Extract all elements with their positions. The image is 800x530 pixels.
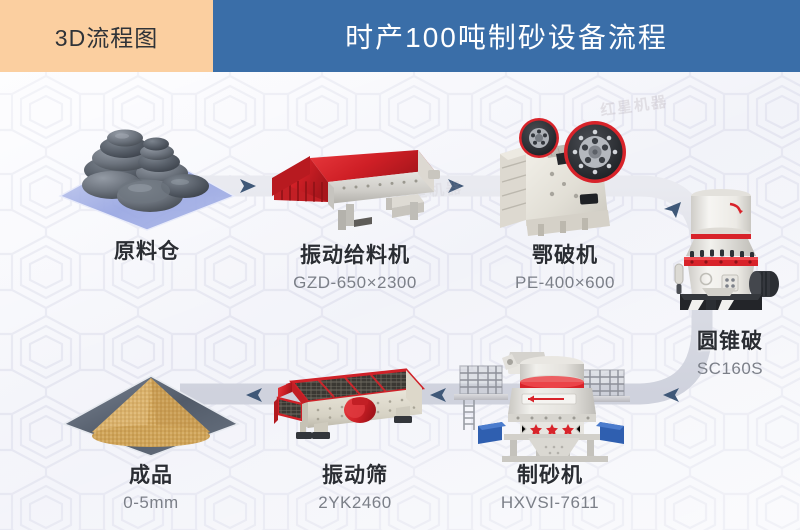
header-title-bar: 时产100吨制砂设备流程 <box>213 0 800 72</box>
node-raw-material-bin[interactable] <box>52 100 242 240</box>
label-raw-material-bin: 原料仓 <box>52 240 242 265</box>
node-title: 振动筛 <box>260 464 450 489</box>
node-title: 制砂机 <box>455 464 645 489</box>
vibrating-screen-icon <box>256 362 436 458</box>
node-model: PE-400×600 <box>470 272 660 294</box>
cone-crusher-icon <box>666 182 800 314</box>
finished-product-icon <box>58 352 244 462</box>
label-jaw-crusher: 鄂破机 PE-400×600 <box>470 244 660 294</box>
raw-material-bin-icon <box>52 100 242 235</box>
jaw-crusher-icon <box>482 108 642 240</box>
node-finished-product[interactable] <box>58 352 244 467</box>
node-vibrating-screen[interactable] <box>256 362 436 463</box>
sand-maker-icon <box>448 352 634 464</box>
page-title: 时产100吨制砂设备流程 <box>345 16 668 56</box>
node-model: 0-5mm <box>58 492 244 514</box>
label-cone-crusher: 圆锥破 SC160S <box>660 330 800 380</box>
node-model: SC160S <box>660 358 800 380</box>
label-vibrating-feeder: 振动给料机 GZD-650×2300 <box>260 244 450 294</box>
node-cone-crusher[interactable] <box>666 182 800 319</box>
header-tag-label: 3D流程图 <box>55 19 158 53</box>
label-sand-maker: 制砂机 HXVSI-7611 <box>455 464 645 514</box>
node-sand-maker[interactable] <box>448 352 634 469</box>
node-jaw-crusher[interactable] <box>482 108 642 245</box>
node-title: 圆锥破 <box>660 330 800 355</box>
node-title: 鄂破机 <box>470 244 660 269</box>
node-model: HXVSI-7611 <box>455 492 645 514</box>
vibrating-feeder-icon <box>268 140 446 245</box>
node-title: 成品 <box>58 464 244 489</box>
header-bar: 3D流程图 时产100吨制砂设备流程 <box>0 0 800 72</box>
node-title: 振动给料机 <box>260 244 450 269</box>
label-vibrating-screen: 振动筛 2YK2460 <box>260 464 450 514</box>
node-model: 2YK2460 <box>260 492 450 514</box>
label-finished-product: 成品 0-5mm <box>58 464 244 514</box>
header-tag: 3D流程图 <box>0 0 213 72</box>
node-vibrating-feeder[interactable] <box>268 140 446 250</box>
node-title: 原料仓 <box>52 240 242 265</box>
flow-diagram-canvas: 红星机器 红星机器 红星机器 <box>0 0 800 530</box>
node-model: GZD-650×2300 <box>260 272 450 294</box>
